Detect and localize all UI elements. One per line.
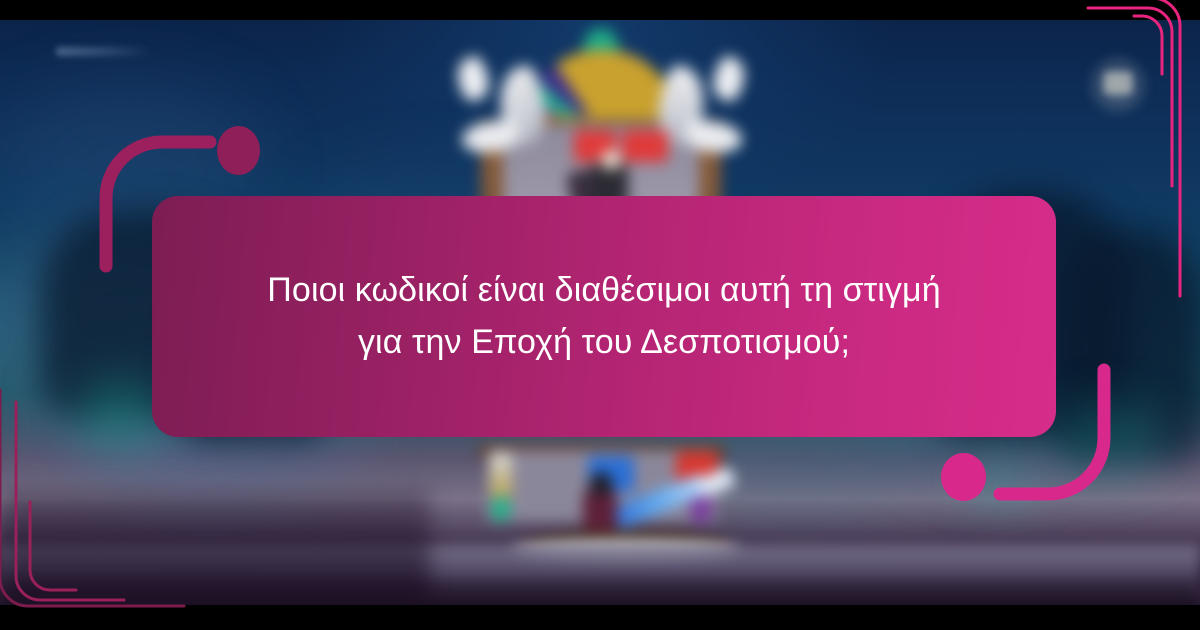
- character-head: [589, 472, 613, 496]
- background-foreground-shadow: [0, 490, 430, 605]
- green-lantern-icon: [491, 496, 511, 522]
- decor-dot-bottom-right: [941, 453, 986, 501]
- question-card: Ποιοι κωδικοί είναι διαθέσιμοι αυτή τη σ…: [152, 196, 1056, 437]
- red-banner-right: [622, 130, 668, 162]
- horn-small-icon: [707, 54, 751, 105]
- horn-small-icon: [451, 54, 495, 105]
- decor-dot-top-left: [217, 126, 260, 175]
- share-card-canvas: Ποιοι κωδικοί είναι διαθέσιμοι αυτή τη σ…: [0, 0, 1200, 630]
- lamp-icon: [490, 452, 512, 498]
- letterbox-top: [0, 0, 1200, 20]
- character-upper-head: [601, 150, 621, 170]
- question-text: Ποιοι κωδικοί είναι διαθέσιμοι αυτή τη σ…: [254, 265, 954, 368]
- letterbox-bottom: [0, 605, 1200, 630]
